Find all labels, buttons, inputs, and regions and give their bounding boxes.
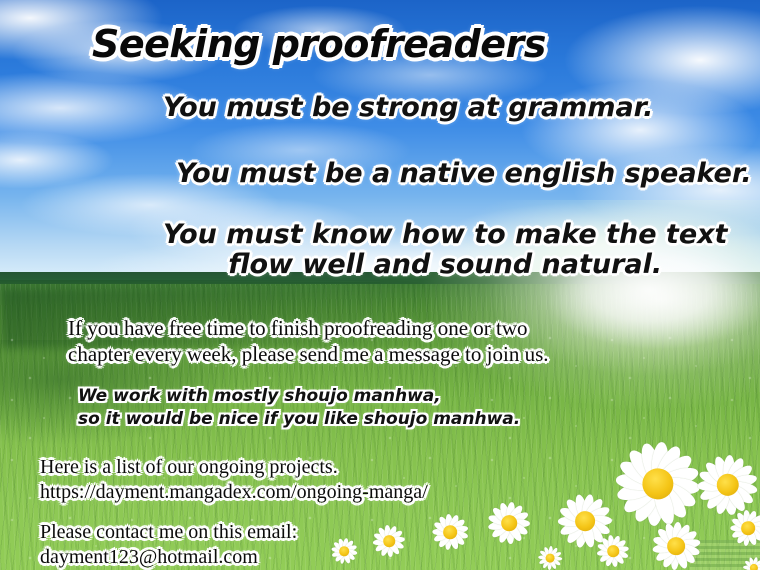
daisy-flower-icon: [536, 544, 563, 570]
daisy-flower-icon: [484, 498, 534, 548]
daisy-center: [750, 564, 759, 570]
daisy-flower-icon: [594, 532, 633, 570]
daisy-flower-icon: [726, 506, 760, 551]
contact-intro: Please contact me on this email:: [40, 520, 297, 545]
requirement-grammar: You must be strong at grammar.: [163, 92, 653, 123]
daisy-center: [667, 537, 686, 556]
daisy-center: [501, 515, 518, 532]
projects-intro: Here is a list of our ongoing projects.: [40, 455, 338, 480]
daisy-flower-icon: [427, 509, 472, 554]
daisy-center: [545, 553, 554, 562]
daisy-center: [338, 545, 349, 556]
requirement-native-speaker: You must be a native english speaker.: [176, 158, 752, 189]
daisy-flower-icon: [648, 518, 704, 570]
commitment-text: If you have free time to finish proofrea…: [68, 315, 549, 367]
contact-email[interactable]: dayment123@hotmail.com: [40, 545, 258, 570]
daisy-flower-icon: [328, 535, 360, 567]
projects-url[interactable]: https://dayment.mangadex.com/ongoing-man…: [40, 480, 428, 505]
daisy-center: [383, 535, 396, 548]
daisy-flower-icon: [370, 522, 407, 559]
proofreader-recruitment-poster: Seeking proofreaders You must be strong …: [0, 0, 760, 570]
daisy-flower-icon: [741, 555, 760, 570]
requirement-text-flow: You must know how to make the text flow …: [163, 220, 727, 280]
page-title: Seeking proofreaders: [92, 22, 546, 66]
genre-note: We work with mostly shoujo manhwa, so it…: [78, 385, 520, 431]
